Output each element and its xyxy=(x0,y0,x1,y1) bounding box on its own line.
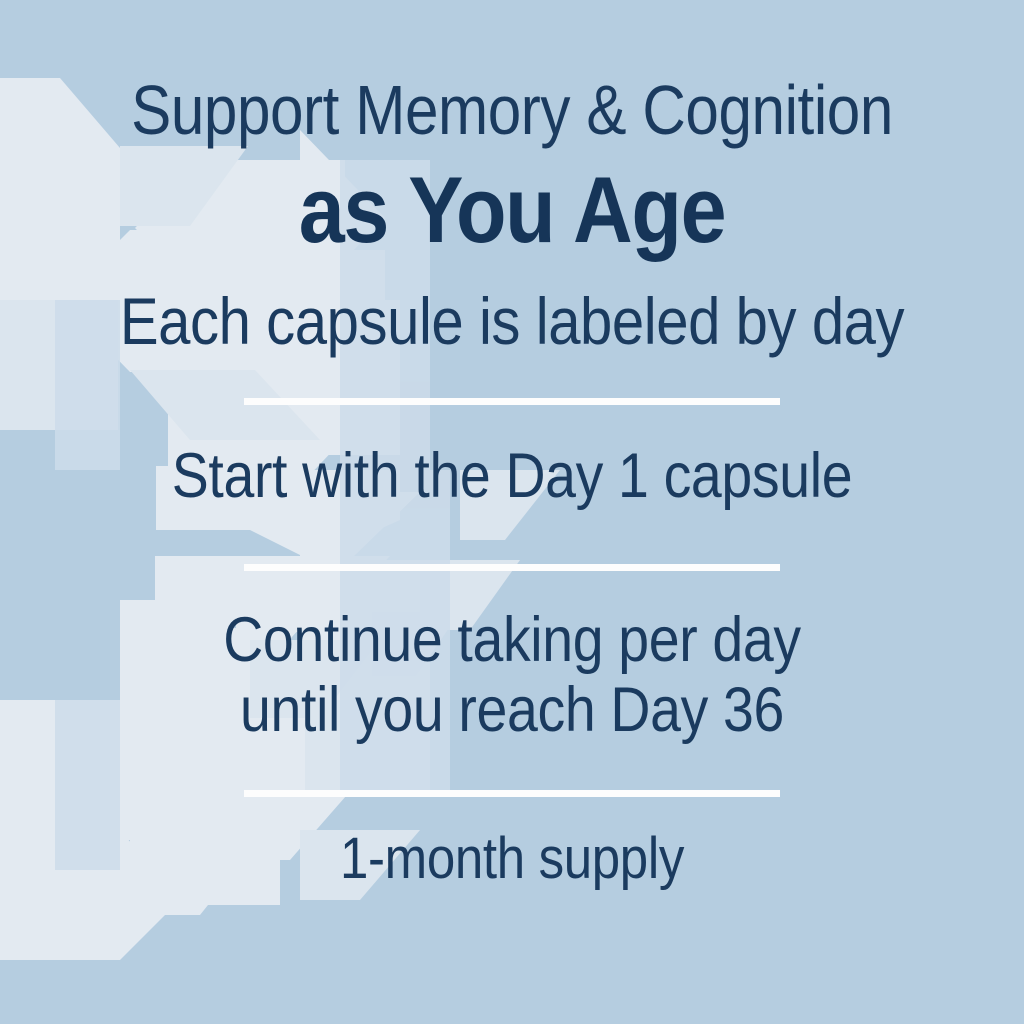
step-start: Start with the Day 1 capsule xyxy=(86,441,938,512)
step-supply: 1-month supply xyxy=(86,827,938,892)
content-stack: Support Memory & Cognition as You Age Ea… xyxy=(0,0,1024,1024)
page-title-line2: as You Age xyxy=(86,163,938,257)
step-continue-line2: until you reach Day 36 xyxy=(86,675,938,746)
divider-2 xyxy=(244,564,780,571)
step-start-line: Start with the Day 1 capsule xyxy=(86,441,938,512)
divider-1 xyxy=(244,398,780,405)
page-title-line1: Support Memory & Cognition xyxy=(96,74,928,147)
promo-graphic: Support Memory & Cognition as You Age Ea… xyxy=(0,0,1024,1024)
step-continue: Continue taking per day until you reach … xyxy=(86,605,938,746)
step-supply-line: 1-month supply xyxy=(86,827,938,892)
step-continue-line1: Continue taking per day xyxy=(86,605,938,676)
subtitle: Each capsule is labeled by day xyxy=(86,287,938,356)
divider-3 xyxy=(244,790,780,797)
